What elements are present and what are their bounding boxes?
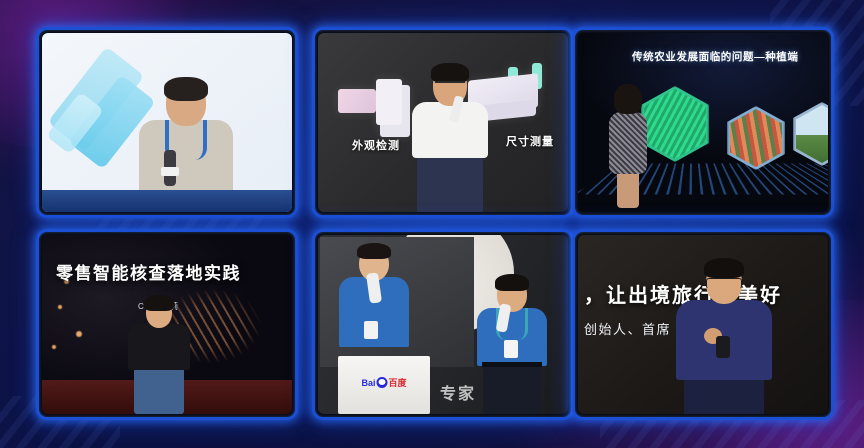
id-badge	[504, 340, 518, 358]
slide-title-agriculture: 传统农业发展面临的问题—种植端	[632, 49, 820, 64]
photo-panel-2[interactable]: 外观检测 尺寸测量	[312, 27, 574, 218]
baidu-logo-icon: Bai百度	[361, 376, 406, 389]
photo-panel-3[interactable]: 传统农业发展面临的问题—种植端	[572, 27, 834, 218]
photo-panel-6[interactable]: ，让出境旅行更美好 创始人、首席 CTO 张衡	[572, 229, 834, 420]
photo-3-image: 传统农业发展面临的问题—种植端	[578, 33, 828, 212]
hexagon-farmland	[796, 105, 828, 163]
id-badge	[364, 321, 378, 339]
speaker-figure	[670, 262, 778, 414]
photo-grid: 外观检测 尺寸测量 传统农业发展面临的问题—种植端	[0, 0, 864, 448]
slide-label-dimension-measurement: 尺寸测量	[506, 133, 554, 149]
speaker-figure	[600, 88, 656, 208]
photo-2-image: 外观检测 尺寸测量	[318, 33, 568, 212]
speaker-figure	[134, 80, 238, 190]
presentation-clicker-icon	[716, 336, 730, 358]
photo-5-image: >50% 专家 Bai百度	[318, 235, 568, 414]
stage-floor	[42, 190, 292, 212]
glasses-icon	[706, 278, 742, 289]
photo-panel-4[interactable]: 零售智能核查落地实践 CTO 张莉	[36, 229, 298, 420]
photo-4-image: 零售智能核查落地实践 CTO 张莉	[42, 235, 292, 414]
slide-label-appearance-inspection: 外观检测	[352, 137, 400, 153]
slide-title-retail: 零售智能核查落地实践	[56, 259, 241, 284]
speaker-figure	[120, 298, 198, 414]
speaker-figure	[402, 66, 498, 212]
photo-6-image: ，让出境旅行更美好 创始人、首席 CTO 张衡	[578, 235, 828, 414]
hexagon-harvest	[730, 109, 782, 167]
photo-1-image	[42, 33, 292, 212]
projection-screen	[320, 237, 474, 367]
speaker-figure	[468, 278, 556, 414]
photo-panel-5[interactable]: >50% 专家 Bai百度	[312, 229, 574, 420]
projected-speaker-figure	[334, 247, 414, 369]
podium: Bai百度	[338, 356, 430, 414]
collage-canvas: 外观检测 尺寸测量 传统农业发展面临的问题—种植端	[0, 0, 864, 448]
glasses-icon	[435, 81, 465, 90]
photo-panel-1[interactable]	[36, 27, 298, 218]
